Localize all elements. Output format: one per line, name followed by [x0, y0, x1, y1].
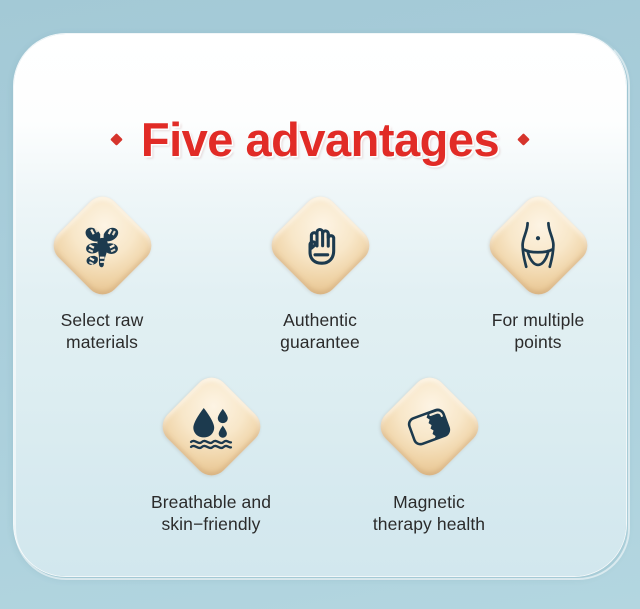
badge-authentic-guarantee: [264, 189, 376, 301]
feature-label-line-1: Breathable and: [151, 492, 271, 512]
feature-label-line-2: materials: [61, 331, 144, 353]
diamond-dot-right-icon: [517, 133, 530, 146]
feature-label-line-1: Authentic: [283, 310, 357, 330]
ginger-root-icon: [73, 216, 131, 274]
feature-for-multiple-points[interactable]: For multiple points: [460, 189, 616, 354]
abdomen-body-icon: [509, 216, 567, 274]
feature-label-line-2: skin−friendly: [151, 513, 271, 535]
badge-for-multiple-points: [482, 189, 594, 301]
feature-row-1: Select raw materials: [14, 189, 626, 354]
navel-dot: [536, 236, 540, 240]
feature-label-line-1: Magnetic: [393, 492, 465, 512]
feature-label: Select raw materials: [61, 309, 144, 354]
poster-canvas: Five advantages: [0, 0, 640, 609]
feature-breathable-skin-friendly[interactable]: Breathable and skin−friendly: [133, 371, 289, 536]
page-title: Five advantages: [14, 112, 626, 167]
title-text: Five advantages: [141, 112, 499, 167]
magnetic-patch-icon: [400, 398, 458, 456]
feature-label-line-2: guarantee: [280, 331, 360, 353]
content-card: Five advantages: [14, 34, 626, 576]
feature-label-line-2: points: [492, 331, 585, 353]
feature-label: For multiple points: [492, 309, 585, 354]
feature-magnetic-therapy-health[interactable]: Magnetic therapy health: [351, 371, 507, 536]
feature-label-line-1: For multiple: [492, 310, 585, 330]
feature-row-2: Breathable and skin−friendly: [14, 371, 626, 536]
feature-authentic-guarantee[interactable]: Authentic guarantee: [242, 189, 398, 354]
feature-label-line-1: Select raw: [61, 310, 144, 330]
feature-grid: Select raw materials: [14, 189, 626, 536]
badge-magnetic-therapy-health: [373, 371, 485, 483]
diamond-dot-left-icon: [110, 133, 123, 146]
water-drop-waves-icon: [182, 398, 240, 456]
badge-breathable-skin-friendly: [155, 371, 267, 483]
badge-select-raw-materials: [46, 189, 158, 301]
feature-label: Authentic guarantee: [280, 309, 360, 354]
hand-palm-icon: [291, 216, 349, 274]
feature-label: Magnetic therapy health: [373, 491, 485, 536]
feature-select-raw-materials[interactable]: Select raw materials: [24, 189, 180, 354]
feature-label-line-2: therapy health: [373, 513, 485, 535]
feature-label: Breathable and skin−friendly: [151, 491, 271, 536]
